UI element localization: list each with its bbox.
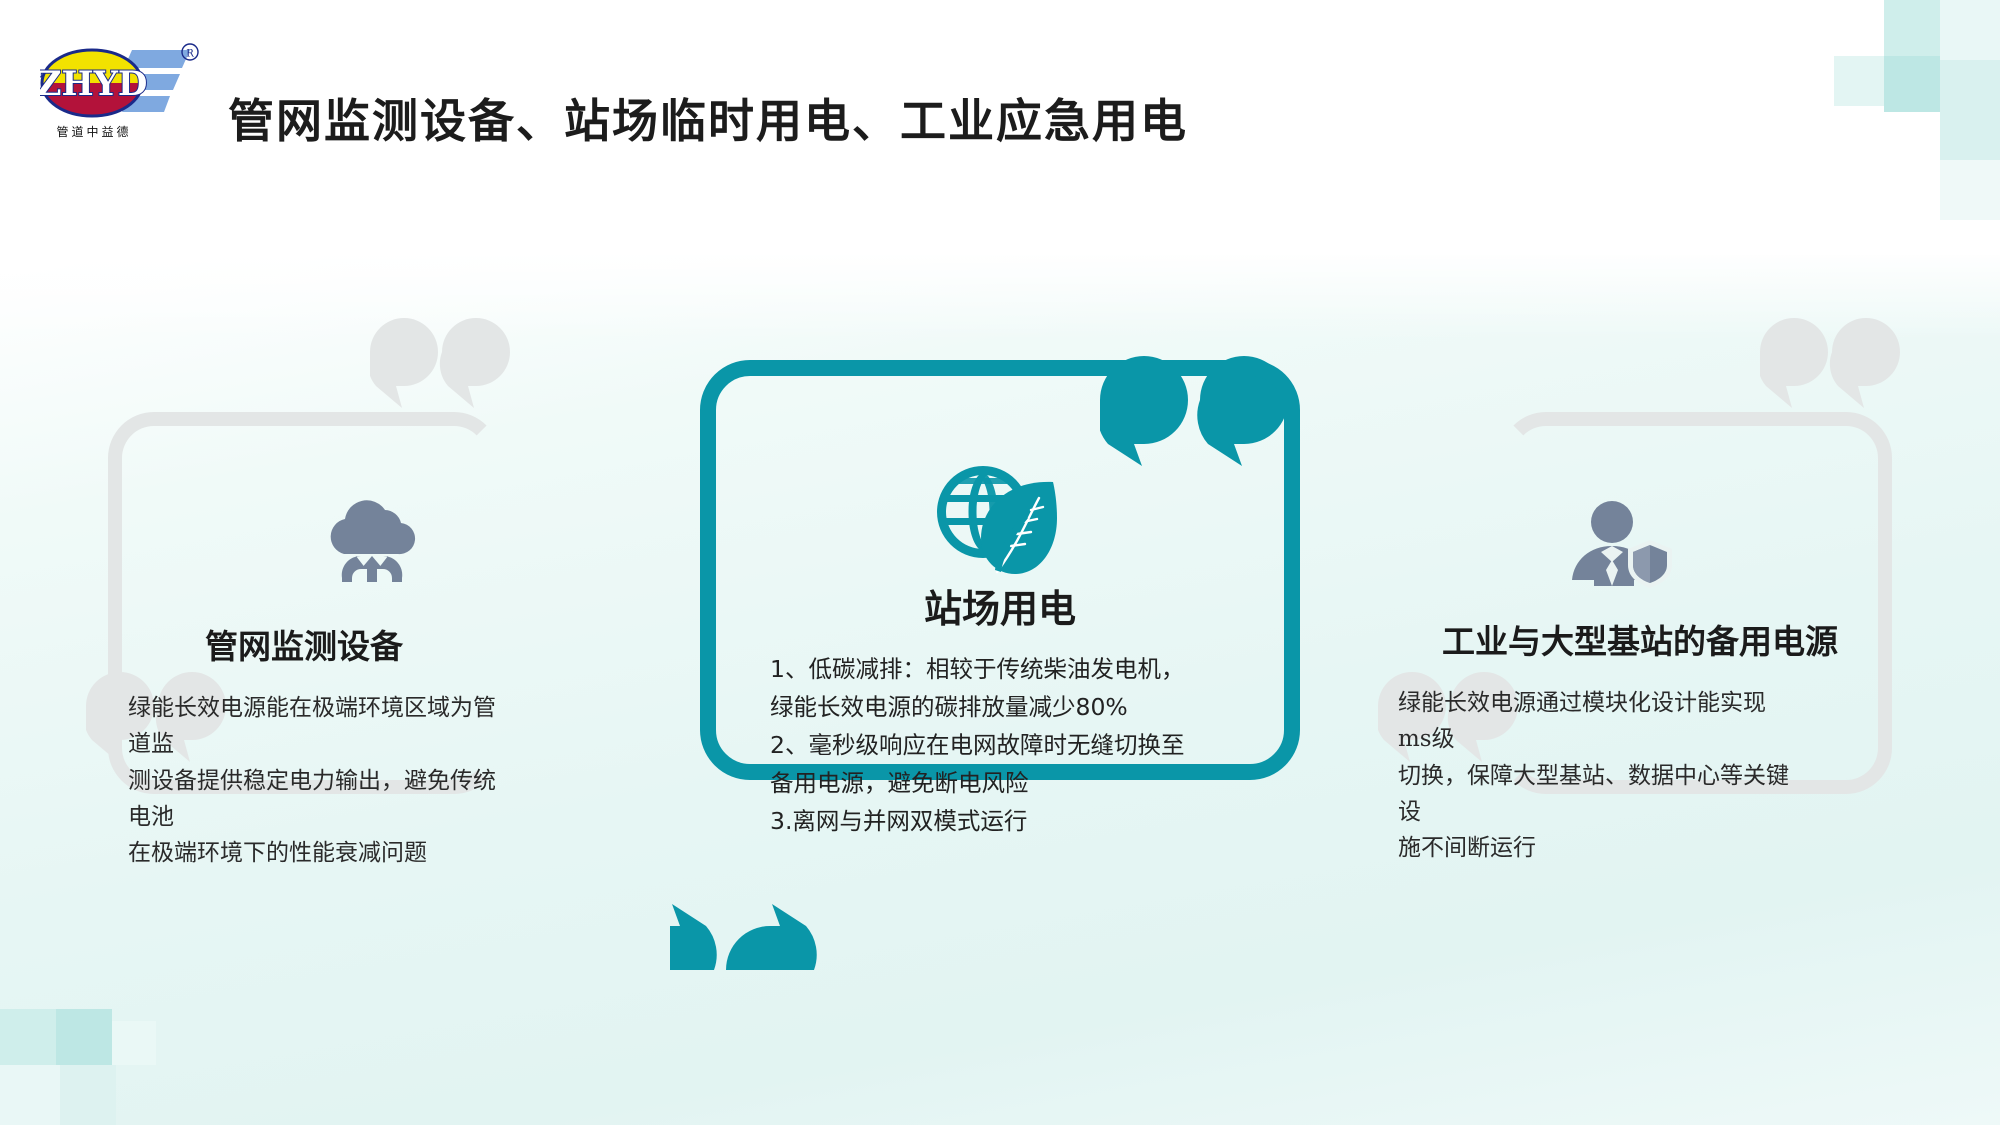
person-shield-icon — [1566, 500, 1678, 593]
svg-text:R: R — [186, 49, 194, 60]
cloud-upload-icon — [318, 500, 426, 587]
corner-square-bl-4 — [60, 1065, 116, 1125]
slide-header: ZHYD R 管道中益德 管网监测设备、站场临时用电、工业应急用电 — [0, 0, 2000, 230]
quote-bubble-teal-bottom — [670, 860, 860, 970]
corner-square-bl-2 — [0, 1009, 56, 1065]
company-logo: ZHYD R 管道中益德 — [40, 38, 200, 143]
globe-leaf-icon — [935, 462, 1065, 585]
slide-canvas: ZHYD R 管道中益德 管网监测设备、站场临时用电、工业应急用电 — [0, 0, 2000, 1125]
zhyd-logo-svg: ZHYD R 管道中益德 — [40, 38, 200, 143]
logo-subtext: 管道中益德 — [56, 124, 131, 139]
svg-text:ZHYD: ZHYD — [40, 64, 147, 104]
card-body-pipeline: 绿能长效电源能在极端环境区域为管道监 测设备提供稳定电力输出，避免传统电池 在极… — [128, 690, 506, 872]
background-fade — [0, 250, 2000, 340]
card-body-industrial: 绿能长效电源通过模块化设计能实现ms级 切换，保障大型基站、数据中心等关键设 施… — [1398, 685, 1798, 867]
quote-bubble-grey-top-right-card — [1760, 318, 1900, 413]
corner-square-bl-3 — [56, 1009, 112, 1065]
quote-bubble-grey-top-left-card — [370, 318, 510, 413]
corner-square-bl-5 — [112, 1021, 156, 1065]
card-heading-pipeline: 管网监测设备 — [108, 620, 500, 668]
corner-square-bl-1 — [0, 1065, 60, 1125]
page-title: 管网监测设备、站场临时用电、工业应急用电 — [228, 85, 1188, 151]
card-heading-industrial: 工业与大型基站的备用电源 — [1380, 615, 1900, 663]
card-body-station: 1、低碳减排：相较于传统柴油发电机， 绿能长效电源的碳排放量减少80% 2、毫秒… — [770, 650, 1290, 840]
card-heading-station: 站场用电 — [700, 578, 1300, 633]
